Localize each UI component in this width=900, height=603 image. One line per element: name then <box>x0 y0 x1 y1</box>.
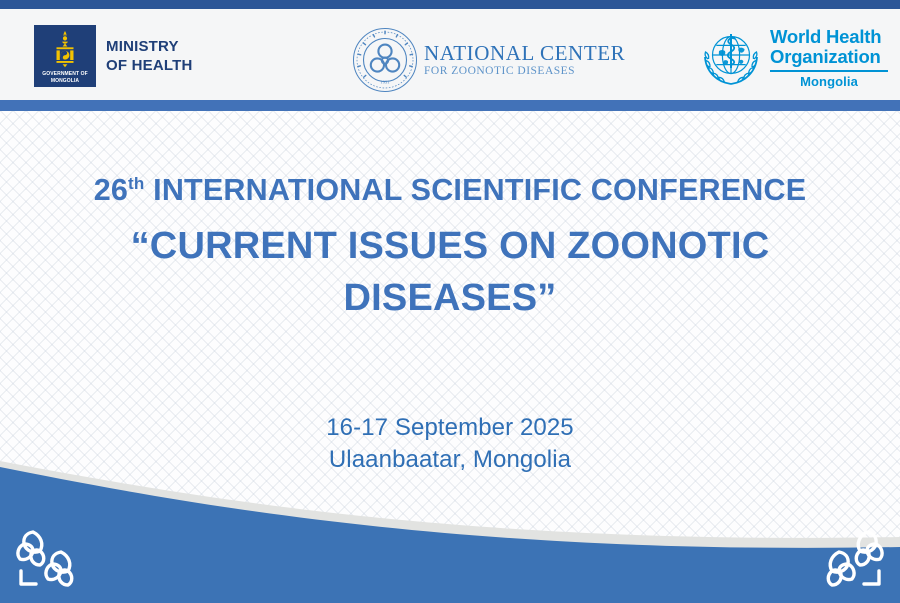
title-block: 26th INTERNATIONAL SCIENTIFIC CONFERENCE… <box>0 170 900 324</box>
logo-ministry-of-health: GOVERNMENT OF MONGOLIA MINISTRY OF HEALT… <box>34 25 193 87</box>
emblem-caption-line2: MONGOLIA <box>51 78 79 84</box>
logo-row: GOVERNMENT OF MONGOLIA MINISTRY OF HEALT… <box>0 9 900 100</box>
who-emblem-icon <box>700 27 762 89</box>
who-country-label: Mongolia <box>770 74 888 89</box>
mongolian-knot-ornament-right <box>814 527 886 589</box>
conference-theme-line2: DISEASES” <box>0 272 900 324</box>
nczd-name-line1: NATIONAL CENTER <box>424 42 625 64</box>
conference-title-slide: GOVERNMENT OF MONGOLIA MINISTRY OF HEALT… <box>0 0 900 603</box>
who-name-line1: World Health <box>770 27 888 47</box>
emblem-caption-line1: GOVERNMENT OF <box>42 71 87 77</box>
conference-theme-line1: “CURRENT ISSUES ON ZOONOTIC <box>0 220 900 272</box>
who-divider <box>770 70 888 72</box>
conference-number: 26 <box>94 173 128 207</box>
mongolian-knot-ornament-left <box>14 527 86 589</box>
nczd-name-line2: FOR ZOONOTIC DISEASES <box>424 64 625 78</box>
logo-national-center-zoonotic-diseases: 1931 NATIONAL CENTER FOR ZOONOTIC DISEAS… <box>352 27 625 93</box>
conference-title-text: INTERNATIONAL SCIENTIFIC CONFERENCE <box>144 173 806 207</box>
conference-heading: 26th INTERNATIONAL SCIENTIFIC CONFERENCE <box>0 170 900 210</box>
header-divider-bar <box>0 100 900 111</box>
logo-world-health-organization: World Health Organization Mongolia <box>700 27 888 89</box>
mongolia-state-emblem: GOVERNMENT OF MONGOLIA <box>34 25 96 87</box>
who-name-line2: Organization <box>770 47 888 67</box>
seal-year: 1931 <box>380 80 390 85</box>
top-accent-bar <box>0 0 900 9</box>
ministry-of-health-name: MINISTRY OF HEALTH <box>106 37 193 75</box>
soyombo-emblem-icon <box>50 30 80 70</box>
footer-wave-decoration <box>0 433 900 603</box>
biohazard-seal-icon: 1931 <box>352 27 418 93</box>
conference-ordinal-suffix: th <box>128 174 144 193</box>
